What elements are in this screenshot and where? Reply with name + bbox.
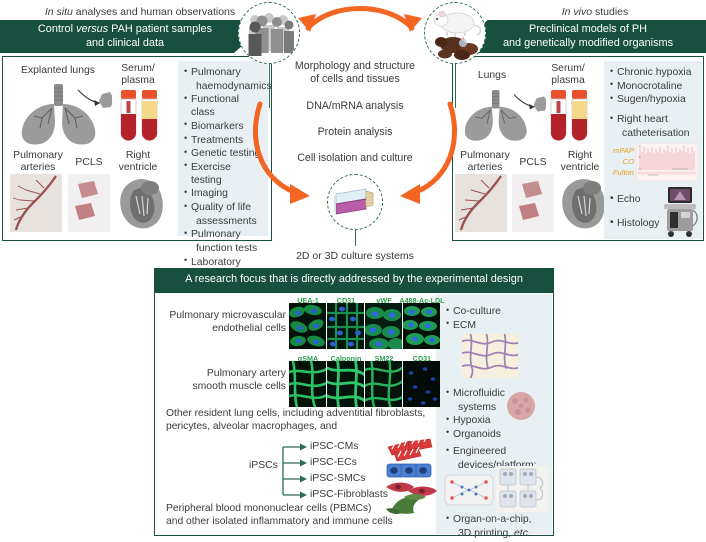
micrograph-uea1 bbox=[289, 303, 326, 349]
centre-text-line-1: Morphology and structureof cells and tis… bbox=[265, 60, 445, 86]
right-lower-bullets: • Echo • Histology bbox=[604, 184, 702, 239]
right-caption-italic: In vivo bbox=[562, 6, 592, 18]
bullet-item: Pulmonary bbox=[184, 228, 262, 241]
left-banner-line1: Control versus PAH patient samples bbox=[38, 23, 212, 36]
flask-connector bbox=[355, 230, 356, 246]
bullet-item: Right heart bbox=[610, 113, 696, 126]
arrow-humans-to-flask bbox=[246, 96, 336, 208]
right-caption-rest: studies bbox=[592, 6, 628, 18]
right-ventricle-image-right bbox=[556, 172, 610, 232]
micrograph-asma bbox=[289, 361, 326, 407]
bullet-item: Pulmonary bbox=[184, 66, 262, 79]
left-caption-rest: analyses and human observations bbox=[73, 6, 235, 18]
other-resident-lung-cells-text: Other resident lung cells, including adv… bbox=[166, 408, 431, 434]
left-section-banner: Control versus PAH patient samples and c… bbox=[0, 20, 272, 53]
serum-plasma-tubes-icon bbox=[118, 88, 162, 146]
bottom-bullets-group4: Organ-on-a-chip, 3D printing, etc. bbox=[440, 508, 552, 542]
endothelial-cell-illustration bbox=[387, 464, 431, 477]
arrow-humans-to-mouse bbox=[292, 6, 428, 40]
bullet-item-organoids: Organoids bbox=[446, 428, 526, 441]
left-caption-italic: In situ bbox=[45, 6, 73, 18]
trace-label-co: CO bbox=[606, 156, 634, 167]
bottom-section-banner: A research focus that is directly addres… bbox=[154, 268, 554, 292]
label-pcls-left: PCLS bbox=[68, 157, 110, 169]
bullet-item-engineered: Engineered bbox=[446, 445, 542, 458]
bullet-item-echo-wrap: • Echo bbox=[610, 194, 640, 207]
endothelial-cells-label: Pulmonary microvascularendothelial cells bbox=[166, 310, 286, 335]
organ-on-chip-icon bbox=[444, 472, 494, 508]
figure-root: In situ analyses and human observations … bbox=[0, 0, 706, 542]
bullet-item-cont: catheterisation bbox=[610, 127, 696, 140]
bullet-item: Monocrotaline bbox=[610, 80, 696, 93]
microfluidic-device-icon bbox=[496, 466, 548, 512]
label-pulmonary-arteries-left: Pulmonaryarteries bbox=[3, 150, 73, 175]
bullet-item-histology-wrap: • Histology bbox=[610, 218, 659, 231]
bullet-item-cont: assessments bbox=[184, 215, 262, 228]
ipsc-item-smcs: iPSC-SMCs bbox=[310, 473, 365, 484]
pulmonary-artery-image-left bbox=[10, 174, 62, 232]
pcls-image-right bbox=[512, 174, 554, 232]
bottom-bullets-group1: Co-culture ECM bbox=[440, 300, 548, 334]
bullet-item-coculture: Co-culture bbox=[446, 305, 542, 318]
bullet-item-cont: haemodynamics bbox=[184, 80, 262, 93]
ipsc-item-cms: iPSC-CMs bbox=[310, 441, 359, 452]
mouse-rodent-icon bbox=[425, 3, 486, 64]
trace-label-fulton: Fulton bbox=[606, 167, 634, 178]
ipscs-label: iPSCs bbox=[249, 460, 278, 471]
label-serum-plasma-left: Serum/plasma bbox=[108, 63, 168, 88]
tissue-sample-arrow-icon bbox=[76, 86, 112, 112]
haemodynamic-trace-icon bbox=[636, 143, 698, 181]
label-explanted-lungs: Explanted lungs bbox=[8, 65, 108, 77]
label-lungs-right: Lungs bbox=[462, 70, 522, 82]
pbmc-text: Peripheral blood mononuclear cells (PBMC… bbox=[166, 503, 428, 529]
human-group-icon bbox=[239, 3, 300, 64]
micrograph-cd31-ec bbox=[327, 303, 364, 349]
label-pcls-right: PCLS bbox=[512, 157, 554, 169]
micrograph-calponin bbox=[327, 361, 364, 407]
human-group-circle bbox=[238, 2, 300, 64]
bullet-item: Chronic hypoxia bbox=[610, 66, 696, 79]
bullet-item-ecm: ECM bbox=[446, 319, 542, 332]
micrograph-sm22 bbox=[365, 361, 402, 407]
bullet-item-echo: Echo bbox=[617, 194, 640, 205]
haemodynamic-trace-labels: mPAP CO Fulton bbox=[606, 145, 634, 178]
cardiomyocyte-illustration bbox=[388, 437, 432, 461]
culture-systems-caption: 2D or 3D culture systems bbox=[265, 250, 445, 262]
ultrasound-machine-icon bbox=[660, 186, 700, 238]
ipsc-item-fibroblasts: iPSC-Fibroblasts bbox=[310, 489, 388, 500]
bullet-item: Sugen/hypoxia bbox=[610, 93, 696, 106]
micrograph-a488acldl bbox=[403, 303, 440, 349]
right-banner-line2: and genetically modified organisms bbox=[503, 37, 673, 50]
micrograph-cd31-smc bbox=[403, 361, 440, 407]
bullet-item-3d-printing: 3D printing, etc. bbox=[446, 527, 546, 540]
smooth-muscle-cells-label: Pulmonary arterysmooth muscle cells bbox=[176, 368, 286, 393]
right-section-banner: Preclinical models of PH and genetically… bbox=[452, 20, 706, 53]
pcls-image-left bbox=[68, 174, 110, 232]
bullet-item-histology: Histology bbox=[617, 218, 659, 229]
rodent-models-circle bbox=[424, 2, 486, 64]
micrograph-vwf bbox=[365, 303, 402, 349]
right-banner-line1: Preclinical models of PH bbox=[503, 23, 673, 36]
ecm-matrix-icon bbox=[462, 334, 518, 378]
left-banner-line2: and clinical data bbox=[38, 37, 212, 50]
etc-italic: etc. bbox=[514, 528, 531, 539]
bullet-spacer bbox=[610, 107, 696, 113]
arrow-mouse-to-flask bbox=[374, 96, 464, 208]
right-ventricle-image-left bbox=[114, 172, 168, 232]
organoid-icon bbox=[504, 390, 538, 422]
tissue-sample-arrow-icon-right bbox=[512, 90, 546, 116]
ipsc-item-ecs: iPSC-ECs bbox=[310, 457, 357, 468]
smooth-muscle-cell-illustration bbox=[386, 482, 437, 495]
trace-label-mpap: mPAP bbox=[606, 145, 634, 156]
left-section-caption: In situ analyses and human observations bbox=[22, 6, 258, 18]
serum-plasma-tubes-icon-right bbox=[548, 88, 592, 146]
bullet-item-organ-on-chip: Organ-on-a-chip, bbox=[446, 513, 546, 526]
right-section-caption: In vivo studies bbox=[520, 6, 670, 18]
bullet-item-cont: function tests bbox=[184, 242, 262, 255]
right-bullet-items: Chronic hypoxia Monocrotaline Sugen/hypo… bbox=[610, 66, 696, 140]
label-serum-plasma-right: Serum/plasma bbox=[538, 63, 598, 88]
